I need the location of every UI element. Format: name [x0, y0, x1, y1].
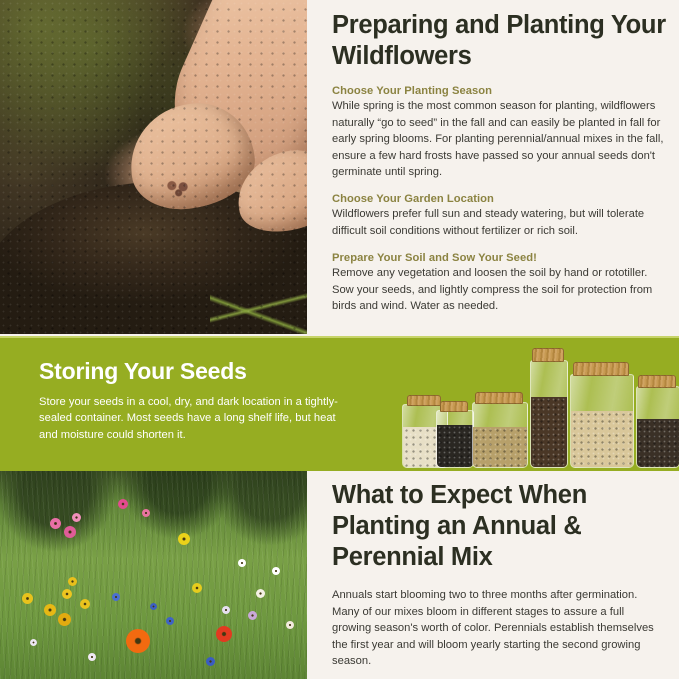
section-storing-your-seeds: Storing Your Seeds Store your seeds in a…	[0, 336, 679, 473]
jar-glass	[472, 402, 528, 468]
body-planting-season: While spring is the most common season f…	[332, 98, 666, 180]
jar-cork-lid	[638, 375, 676, 388]
jar-glass	[636, 386, 679, 468]
body-expect: Annuals start blooming two to three mont…	[332, 587, 666, 669]
meadow-flower	[150, 603, 157, 610]
meadow-flower	[126, 629, 150, 653]
meadow-flower	[216, 626, 232, 642]
meadow-flower	[44, 604, 56, 616]
meadow-flower	[62, 589, 72, 599]
meadow-flower	[118, 499, 128, 509]
jar-glass	[436, 410, 474, 468]
jar-sunflower	[636, 377, 678, 468]
storing-text-column: Storing Your Seeds Store your seeds in a…	[39, 358, 339, 443]
subhead-garden-location: Choose Your Garden Location	[332, 193, 666, 205]
meadow-flower	[88, 653, 96, 661]
meadow-flower	[272, 567, 280, 575]
meadow-flower	[206, 657, 215, 666]
jar-contents	[473, 427, 527, 467]
wildflower-meadow-photo	[0, 471, 307, 679]
jar-cork-lid	[440, 401, 468, 412]
subhead-planting-season: Choose Your Planting Season	[332, 85, 666, 97]
meadow-flower	[80, 599, 90, 609]
jar-tan-grain	[472, 394, 526, 468]
body-garden-location: Wildflowers prefer full sun and steady w…	[332, 206, 666, 239]
meadow-flower	[178, 533, 190, 545]
body-prepare-soil: Remove any vegetation and loosen the soi…	[332, 265, 666, 314]
meadow-flower	[222, 606, 230, 614]
soil-texture	[0, 0, 307, 334]
jar-cork-lid	[475, 392, 523, 404]
section-title-storing: Storing Your Seeds	[39, 358, 339, 385]
meadow-flower	[238, 559, 246, 567]
seed-jars-photo	[390, 346, 666, 468]
jar-contents	[531, 397, 567, 467]
meadow-flower	[58, 613, 71, 626]
meadow-flower	[286, 621, 294, 629]
subhead-prepare-soil: Prepare Your Soil and Sow Your Seed!	[332, 252, 666, 264]
expect-text-column: What to Expect When Planting an Annual &…	[332, 480, 666, 670]
meadow-flower	[256, 589, 265, 598]
jar-cork-lid	[532, 348, 564, 362]
meadow-flower	[72, 513, 81, 522]
jar-glass	[570, 374, 634, 468]
hand-sowing-seeds-photo	[0, 0, 307, 334]
jar-black-seeds	[436, 403, 472, 468]
meadow-flower	[64, 526, 76, 538]
meadow-flower	[68, 577, 77, 586]
page-title-expect: What to Expect When Planting an Annual &…	[332, 480, 666, 573]
jar-pumpkin-seeds	[570, 364, 632, 468]
jar-contents	[637, 419, 679, 467]
meadow-flower	[192, 583, 202, 593]
meadow-flower	[30, 639, 37, 646]
jar-contents	[571, 411, 633, 467]
jar-glass	[530, 360, 568, 468]
jar-contents	[437, 425, 473, 467]
meadow-grass-texture	[0, 471, 307, 679]
jar-cork-lid	[573, 362, 629, 376]
body-storing: Store your seeds in a cool, dry, and dar…	[39, 394, 339, 443]
page-title-planting: Preparing and Planting Your Wildflowers	[332, 10, 666, 72]
infographic-page: Preparing and Planting Your Wildflowers …	[0, 0, 679, 679]
planting-text-column: Preparing and Planting Your Wildflowers …	[332, 10, 666, 330]
meadow-flower	[248, 611, 257, 620]
section-preparing-and-planting: Preparing and Planting Your Wildflowers …	[0, 0, 679, 336]
meadow-flower	[112, 593, 120, 601]
section-what-to-expect: What to Expect When Planting an Annual &…	[0, 471, 679, 679]
meadow-flower	[22, 593, 33, 604]
meadow-flower	[50, 518, 61, 529]
jar-tall-dark	[530, 350, 566, 468]
meadow-flower	[166, 617, 174, 625]
meadow-flower	[142, 509, 150, 517]
